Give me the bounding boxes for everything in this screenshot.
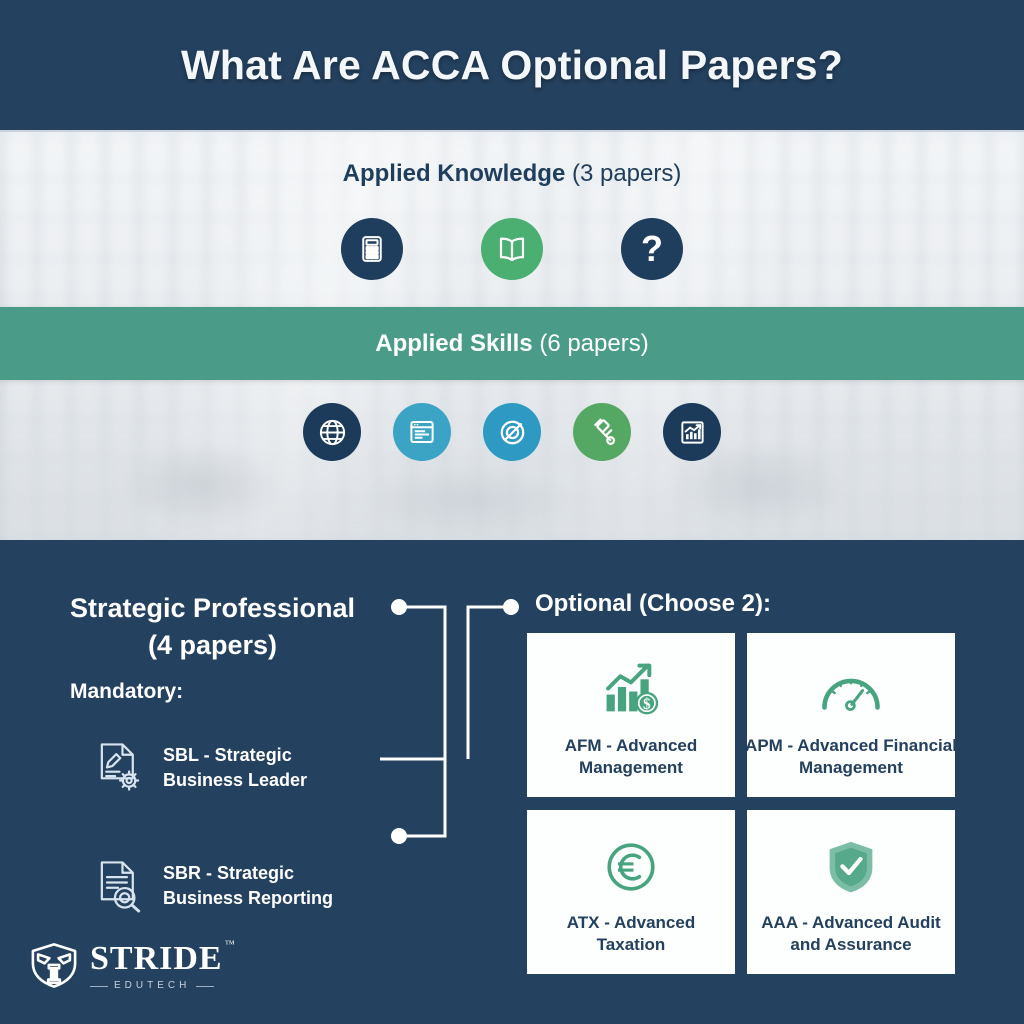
brand-name: STRIDE™	[90, 942, 223, 976]
target-chart-icon	[483, 403, 541, 461]
infographic-poster: What Are ACCA Optional Papers? Applied K…	[0, 0, 1024, 1024]
brand-name-word: STRIDE	[90, 940, 223, 977]
growth-chart-dollar-icon: $	[600, 659, 662, 721]
optional-label: Optional (Choose 2):	[535, 590, 771, 618]
applied-knowledge-title-count: (3 papers)	[565, 160, 681, 187]
card-apm-line1: APM - Advanced Financial	[745, 736, 957, 755]
applied-knowledge-section: Applied Knowledge (3 papers)	[0, 130, 1024, 307]
optional-card-apm[interactable]: APM - Advanced Financial Management	[747, 633, 955, 797]
brand-subtitle: EDUTECH	[90, 981, 223, 991]
optional-cards-row-1: $ AFM - Advanced Management	[527, 633, 955, 797]
connector-node-sbr	[391, 828, 407, 844]
optional-cards-row-2: ATX - Advanced Taxation AAA - Advanced A…	[527, 810, 955, 974]
applied-knowledge-icon-row: ?	[0, 218, 1024, 280]
applied-knowledge-title: Applied Knowledge (3 papers)	[0, 160, 1024, 188]
card-afm-line1: AFM - Advanced	[565, 736, 698, 755]
svg-text:$: $	[643, 696, 651, 713]
brand-logo: STRIDE™ EDUTECH	[28, 938, 223, 995]
card-aaa-line1: AAA - Advanced Audit	[761, 913, 940, 932]
optional-card-afm[interactable]: $ AFM - Advanced Management	[527, 633, 735, 797]
applied-skills-title-bold: Applied Skills	[375, 330, 532, 357]
applied-skills-band: Applied Skills (6 papers)	[0, 307, 1024, 380]
optional-card-afm-label: AFM - Advanced Management	[565, 735, 698, 780]
globe-icon	[303, 403, 361, 461]
connector-node-sp	[391, 599, 407, 615]
optional-card-apm-label: APM - Advanced Financial Management	[745, 735, 957, 780]
gavel-icon	[573, 403, 631, 461]
card-aaa-line2: and Assurance	[790, 935, 911, 954]
trademark-mark: ™	[225, 940, 236, 950]
brand-logo-text: STRIDE™ EDUTECH	[90, 942, 223, 991]
shield-check-icon	[824, 836, 878, 898]
connector-node-optional	[503, 599, 519, 615]
bar-chart-icon	[663, 403, 721, 461]
optional-card-atx-label: ATX - Advanced Taxation	[567, 912, 695, 957]
open-book-icon	[481, 218, 543, 280]
optional-cards-grid: $ AFM - Advanced Management	[527, 633, 955, 987]
applied-skills-title-count: (6 papers)	[533, 330, 649, 357]
card-atx-line1: ATX - Advanced	[567, 913, 695, 932]
applied-skills-title: Applied Skills (6 papers)	[375, 330, 648, 358]
stride-emblem-icon	[28, 938, 80, 995]
optional-card-aaa[interactable]: AAA - Advanced Audit and Assurance	[747, 810, 955, 974]
euro-circle-icon	[603, 836, 659, 898]
optional-card-aaa-label: AAA - Advanced Audit and Assurance	[761, 912, 940, 957]
header-bar: What Are ACCA Optional Papers?	[0, 0, 1024, 130]
calculator-icon	[341, 218, 403, 280]
applied-knowledge-title-bold: Applied Knowledge	[343, 160, 566, 187]
subtitle-rule-right	[196, 986, 214, 987]
applied-skills-icon-row	[0, 403, 1024, 461]
speedometer-icon	[819, 659, 883, 721]
question-mark-icon: ?	[621, 218, 683, 280]
card-afm-line2: Management	[579, 758, 683, 777]
card-apm-line2: Management	[799, 758, 903, 777]
page-title: What Are ACCA Optional Papers?	[181, 42, 843, 89]
optional-card-atx[interactable]: ATX - Advanced Taxation	[527, 810, 735, 974]
subtitle-rule-left	[90, 986, 108, 987]
brand-subtitle-text: EDUTECH	[114, 981, 190, 991]
document-window-icon	[393, 403, 451, 461]
card-atx-line2: Taxation	[597, 935, 666, 954]
